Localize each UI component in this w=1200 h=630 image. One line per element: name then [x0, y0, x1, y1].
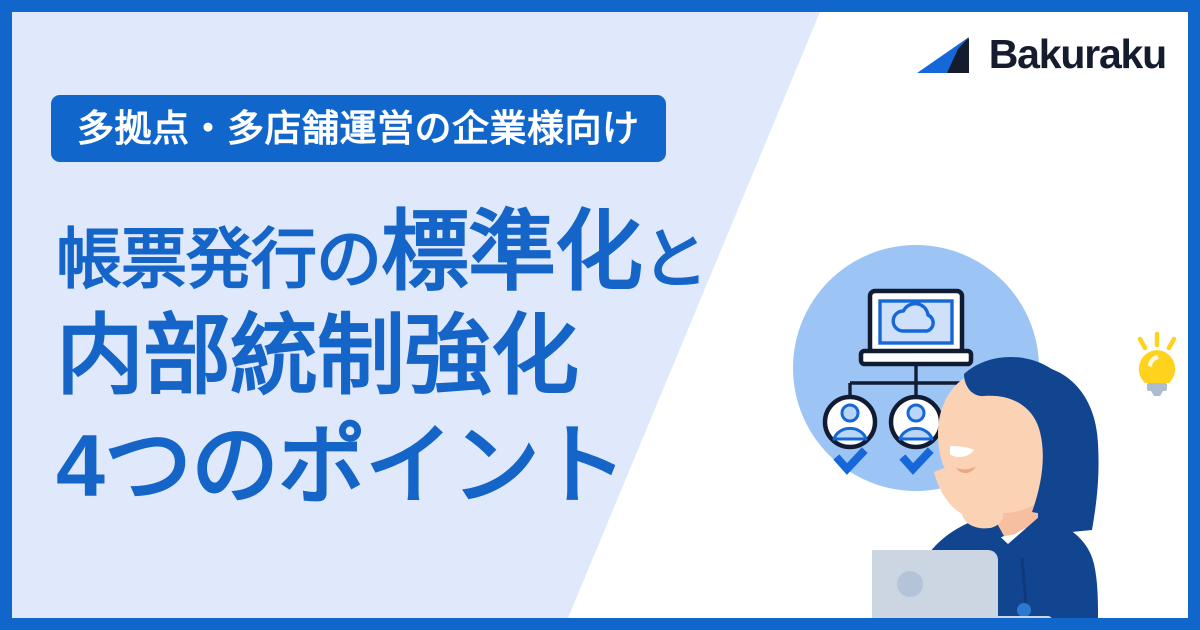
check-icon [839, 453, 862, 469]
hand [962, 495, 1003, 528]
badge-label: 多拠点・多店舗運営の企業様向け [77, 110, 640, 147]
lock-icon [969, 444, 995, 479]
bakuraku-triangle-logo-icon [917, 35, 975, 75]
hair-front [964, 357, 1077, 518]
headline-line-1: 帳票発行の 標準化 と [56, 208, 816, 296]
headline-block: 帳票発行の 標準化 と 内部統制強化 4つのポイント [56, 208, 816, 510]
banner-canvas: Bakuraku 多拠点・多店舗運営の企業様向け 帳票発行の 標準化 と 内部統… [12, 12, 1188, 618]
check-icon [905, 453, 928, 469]
blazer-button [1017, 603, 1031, 617]
mouth [950, 446, 974, 457]
user-avatar-icon [957, 397, 1007, 447]
laptop-icon [872, 550, 1052, 618]
user-avatar-icon [825, 397, 875, 447]
bulb-glass [1139, 350, 1175, 383]
laptop-icon [861, 291, 971, 364]
shirt-collar [942, 518, 1070, 560]
headline-line-2-text: 内部統制強化 [56, 312, 578, 400]
jaw [934, 468, 972, 516]
woman-at-laptop-illustration [872, 322, 1188, 618]
banner-root: Bakuraku 多拠点・多店舗運営の企業様向け 帳票発行の 標準化 と 内部統… [0, 0, 1200, 630]
brand-logo[interactable]: Bakuraku [917, 34, 1166, 75]
brand-name: Bakuraku [989, 34, 1166, 75]
lapel-line [1022, 558, 1026, 604]
headline-line-1-prefix: 帳票発行の [56, 226, 381, 292]
bulb-tip [1151, 391, 1163, 396]
headline-line-1-emphasis: 標準化 [381, 208, 642, 296]
neck [984, 472, 1038, 540]
user-avatar-icon [891, 397, 941, 447]
arm [932, 518, 1004, 574]
headline-line-3: 4つのポイント [56, 422, 816, 510]
face [938, 366, 1066, 513]
lips [956, 466, 976, 473]
diagram-background-circle [793, 245, 1039, 491]
headline-line-2: 内部統制強化 [56, 312, 816, 400]
bulb-base [1147, 383, 1167, 391]
blazer [924, 516, 1098, 618]
lightbulb-idea-icon [1124, 330, 1188, 402]
target-audience-badge: 多拠点・多店舗運営の企業様向け [51, 95, 666, 162]
org-chart-connectors [850, 352, 982, 397]
bulb-highlight [1148, 355, 1159, 367]
cloud-icon [893, 304, 933, 331]
hair-back [945, 364, 1099, 536]
headline-line-1-suffix: と [642, 226, 707, 292]
bulb-rays [1140, 334, 1174, 348]
headline-line-3-text: 4つのポイント [56, 422, 626, 510]
cloud-laptop-org-chart-diagram [793, 245, 1039, 491]
